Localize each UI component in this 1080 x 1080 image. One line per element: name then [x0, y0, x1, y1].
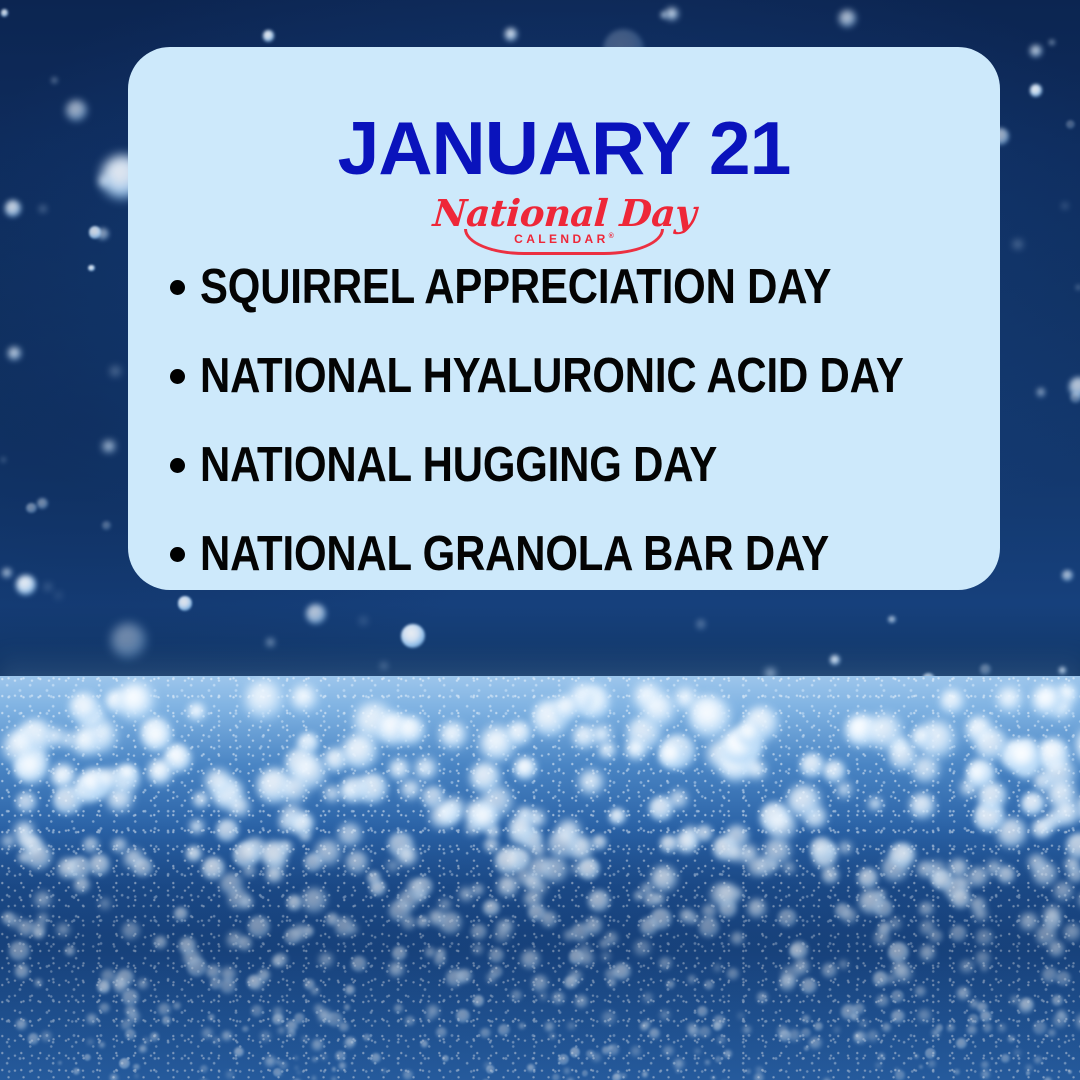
bullet-icon — [170, 458, 185, 473]
list-item: SQUIRREL APPRECIATION DAY — [170, 243, 966, 332]
poster-canvas: JANUARY 21 National Day CALENDAR® SQUIRR… — [0, 0, 1080, 1080]
bullet-icon — [170, 369, 185, 384]
bullet-icon — [170, 547, 185, 562]
glitter-shadow — [0, 820, 1080, 1080]
list-item: NATIONAL HUGGING DAY — [170, 421, 966, 510]
logo-script-text: National Day — [431, 195, 697, 232]
list-item: NATIONAL GRANOLA BAR DAY — [170, 510, 966, 599]
list-item-label: NATIONAL HUGGING DAY — [200, 441, 717, 490]
bullet-icon — [170, 280, 185, 295]
list-item-label: NATIONAL GRANOLA BAR DAY — [200, 530, 829, 579]
list-item-label: SQUIRREL APPRECIATION DAY — [200, 263, 831, 312]
list-item: NATIONAL HYALURONIC ACID DAY — [170, 332, 966, 421]
page-title: JANUARY 21 — [128, 111, 1000, 186]
glitter-field-bottom — [0, 676, 1080, 1080]
list-item-label: NATIONAL HYALURONIC ACID DAY — [200, 352, 904, 401]
content-card: JANUARY 21 National Day CALENDAR® SQUIRR… — [128, 47, 1000, 590]
national-days-list: SQUIRREL APPRECIATION DAY NATIONAL HYALU… — [170, 243, 966, 599]
